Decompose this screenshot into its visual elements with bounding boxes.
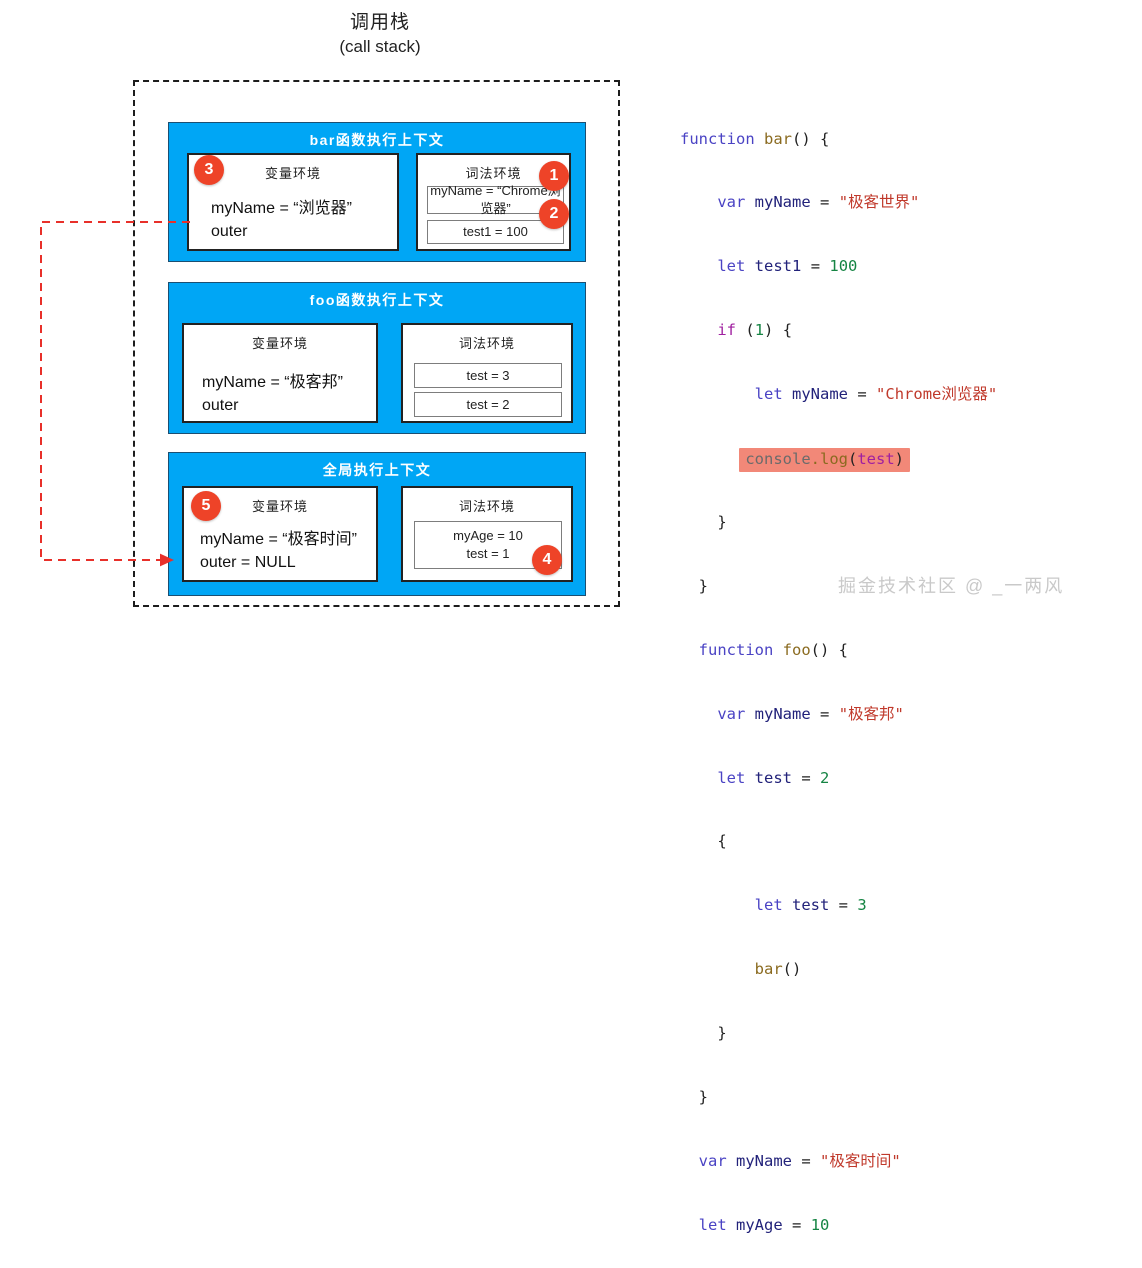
context-title-global: 全局执行上下文 [169,460,585,480]
context-block-global[interactable]: 全局执行上下文 变量环境 myName = “极客时间” outer = NUL… [168,452,586,596]
lexical-environment-label-foo: 词法环境 [403,333,571,352]
diagram-title: 调用栈 (call stack) [245,10,515,59]
code-line-3: let test1 = 100 [680,256,1120,277]
title-english: (call stack) [245,36,515,59]
lexical-slot[interactable]: test = 3 [414,363,562,388]
code-line-2: var myName = "极客世界" [680,192,1120,213]
variable-environment-panel-foo: 变量环境 myName = “极客邦” outer [182,323,378,423]
context-block-bar[interactable]: bar函数执行上下文 变量环境 myName = “浏览器” outer 词法环… [168,122,586,262]
var-line: outer = NULL [200,551,357,574]
var-line: myName = “极客邦” [202,371,343,394]
context-title-bar: bar函数执行上下文 [169,130,585,150]
badge-2: 2 [539,199,569,229]
lexical-slot-text: test1 = 100 [463,223,528,241]
code-line-14: bar() [680,959,1120,980]
variable-environment-label-foo: 变量环境 [184,333,376,352]
code-line-16: } [680,1087,1120,1108]
title-chinese: 调用栈 [245,10,515,36]
code-line-10: var myName = "极客邦" [680,704,1120,725]
var-line: outer [202,394,343,417]
code-line-13: let test = 3 [680,895,1120,916]
code-line-11: let test = 2 [680,768,1120,789]
variable-environment-lines-bar: myName = “浏览器” outer [211,197,352,243]
variable-environment-lines-global: myName = “极客时间” outer = NULL [200,528,357,574]
code-line-7: } [680,512,1120,533]
var-line: myName = “浏览器” [211,197,352,220]
lexical-slot-text: test = 3 [467,367,510,385]
code-line-9: function foo() { [680,640,1120,661]
watermark: 掘金技术社区 @ _一两风 [838,572,1064,598]
badge-4: 4 [532,545,562,575]
badge-5: 5 [191,491,221,521]
context-block-foo[interactable]: foo函数执行上下文 变量环境 myName = “极客邦” outer 词法环… [168,282,586,434]
code-line-12: { [680,831,1120,852]
diagram-canvas: 调用栈 (call stack) bar函数执行上下文 变量环境 myName … [0,0,1142,634]
lexical-slot[interactable]: test = 2 [414,392,562,417]
lexical-environment-label-global: 词法环境 [403,496,571,515]
code-line-15: } [680,1023,1120,1044]
variable-environment-lines-foo: myName = “极客邦” outer [202,371,343,417]
badge-1: 1 [539,161,569,191]
code-line-1: function bar() { [680,129,1120,150]
code-line-17: var myName = "极客时间" [680,1151,1120,1172]
badge-3: 3 [194,155,224,185]
source-code-panel: function bar() { var myName = "极客世界" let… [680,86,1120,1268]
code-line-18: let myAge = 10 [680,1215,1120,1236]
code-line-5: let myName = "Chrome浏览器" [680,384,1120,405]
lexical-environment-panel-foo: 词法环境 test = 3 test = 2 [401,323,573,423]
lexical-slot-text: test = 2 [467,396,510,414]
code-line-6-highlighted: console.log(test) [680,448,1120,469]
var-line: outer [211,220,352,243]
lexical-slot-text: myAge = 10 test = 1 [453,527,523,562]
context-title-foo: foo函数执行上下文 [169,290,585,310]
var-line: myName = “极客时间” [200,528,357,551]
code-line-4: if (1) { [680,320,1120,341]
